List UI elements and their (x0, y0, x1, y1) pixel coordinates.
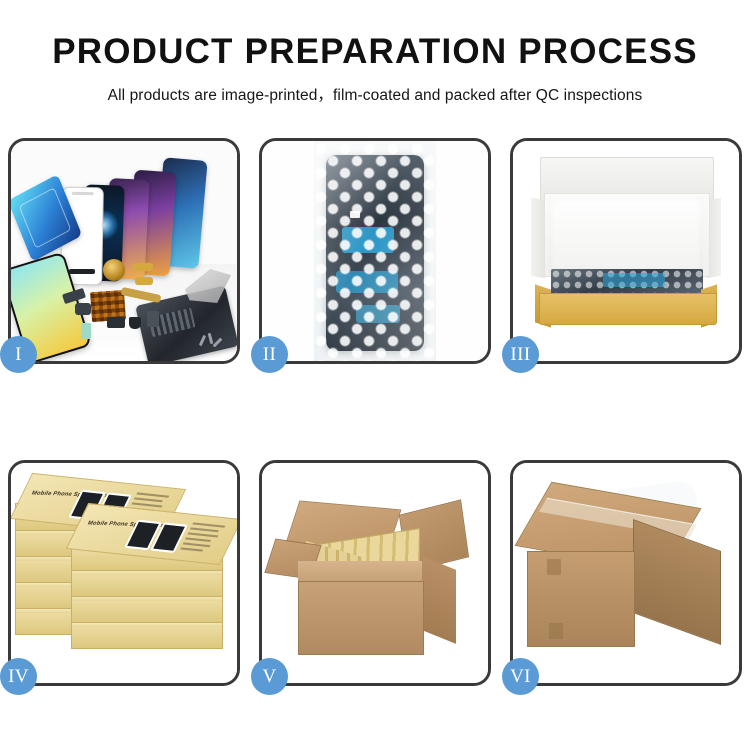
step-image-bubble-wrap (262, 141, 488, 361)
step-image-mailer-box (513, 141, 739, 361)
step-badge-6: VI (502, 658, 539, 695)
sealed-carton-side-icon (633, 519, 721, 645)
retail-box-layer (71, 569, 223, 597)
step-image-open-carton (262, 463, 488, 683)
step-badge-4: IV (0, 658, 37, 695)
coil-icon (103, 259, 125, 281)
carton-side-icon (422, 556, 456, 644)
step-card-6[interactable]: VI (510, 460, 742, 686)
retail-box-layer (71, 621, 223, 649)
page-subtitle: All products are image-printed，film-coat… (0, 83, 750, 105)
part-gold-strip-1-icon (133, 263, 153, 271)
step-image-parts (11, 141, 237, 361)
step-image-box-stack: Mobile Phone Spare Parts Mobile Phone Sp… (11, 463, 237, 683)
step-card-4[interactable]: Mobile Phone Spare Parts Mobile Phone Sp… (8, 460, 240, 686)
step-badge-2: II (251, 336, 288, 373)
mailer-lid-flap-left-icon (531, 198, 545, 278)
screws-icon (199, 333, 223, 351)
step-card-2[interactable]: II (259, 138, 491, 364)
step-card-3[interactable]: III (510, 138, 742, 364)
part-flex-cable-icon (69, 269, 95, 274)
mailer-front-panel-icon (539, 293, 717, 325)
retail-box-stack-icon: Mobile Phone Spare Parts Mobile Phone Sp… (15, 489, 237, 669)
wrapped-items-row-icon (551, 269, 703, 295)
step-image-sealed-carton (513, 463, 739, 683)
bubble-wrap-icon (315, 143, 435, 361)
step-card-1[interactable]: I (8, 138, 240, 364)
steps-grid: I II (8, 138, 742, 686)
part-module-icon (107, 317, 125, 328)
part-sensor-icon (81, 323, 91, 339)
step-badge-3: III (502, 336, 539, 373)
step-card-5[interactable]: V (259, 460, 491, 686)
infographic-page: PRODUCT PREPARATION PROCESS All products… (0, 0, 750, 750)
header: PRODUCT PREPARATION PROCESS All products… (0, 0, 750, 105)
foam-padding-icon (549, 197, 703, 273)
step-badge-5: V (251, 658, 288, 695)
carton-handle-tab-2-icon (549, 623, 563, 639)
carton-handle-tab-1-icon (547, 559, 561, 575)
sealed-carton-front-icon (527, 551, 635, 647)
step-badge-1: I (0, 336, 37, 373)
part-connector-icon (75, 303, 91, 315)
page-title: PRODUCT PREPARATION PROCESS (0, 34, 750, 71)
retail-box-layer (71, 595, 223, 623)
carton-front-icon (298, 581, 424, 655)
part-speaker-icon (129, 317, 141, 329)
part-battery-icon (147, 311, 159, 327)
part-gold-strip-2-icon (135, 277, 153, 285)
